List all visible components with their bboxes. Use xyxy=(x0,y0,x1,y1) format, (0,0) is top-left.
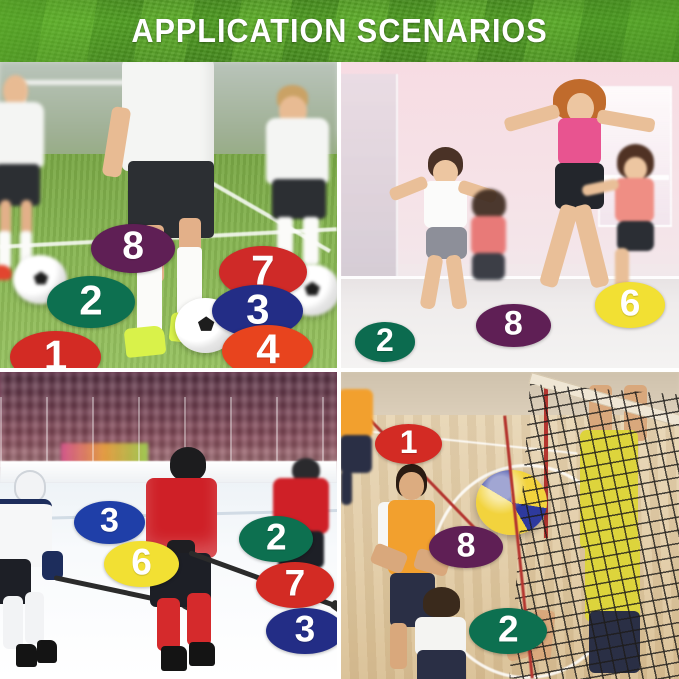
floor-dot-8: 8 xyxy=(91,224,175,273)
dancer xyxy=(456,197,530,319)
panel-hockey: 36273 xyxy=(0,372,337,679)
floor-dot-7: 7 xyxy=(256,562,334,608)
floor-dot-number: 2 xyxy=(498,607,519,653)
background-player xyxy=(0,86,61,276)
floor-dot-number: 4 xyxy=(256,324,279,368)
floor-dot-number: 6 xyxy=(620,281,641,327)
floor-dot-2: 2 xyxy=(355,322,416,362)
panel-fitness: 286 xyxy=(341,62,679,368)
floor-dot-number: 3 xyxy=(100,500,119,543)
hockey-photo: 36273 xyxy=(0,372,337,679)
floor-dot-number: 1 xyxy=(400,423,418,463)
soccer-photo: 821734 xyxy=(0,62,337,368)
floor-dot-2: 2 xyxy=(47,276,135,328)
floor-dot-number: 2 xyxy=(266,515,287,561)
panel-soccer: 821734 xyxy=(0,62,337,368)
floor-dot-6: 6 xyxy=(595,282,666,328)
floor-dot-number: 8 xyxy=(457,524,476,567)
floor-dot-number: 8 xyxy=(122,223,144,272)
volleyball-photo: 182 xyxy=(341,372,679,679)
application-scenarios-poster: APPLICATION SCENARIOS xyxy=(0,0,679,679)
floor-dot-number: 2 xyxy=(376,321,394,361)
floor-dot-number: 1 xyxy=(44,330,67,368)
floor-dot-3: 3 xyxy=(266,608,337,654)
scenario-grid: 821734 xyxy=(0,62,679,679)
floor-dot-number: 7 xyxy=(285,561,306,607)
floor-dot-number: 3 xyxy=(295,607,316,653)
fitness-photo: 286 xyxy=(341,62,679,368)
floor-dot-6: 6 xyxy=(104,541,178,587)
floor-dot-number: 2 xyxy=(79,275,102,327)
floor-dot-8: 8 xyxy=(476,304,550,347)
floor-dot-3: 3 xyxy=(74,501,145,544)
page-title: APPLICATION SCENARIOS xyxy=(24,0,655,62)
floor-dot-number: 6 xyxy=(131,539,152,585)
hockey-player-usa xyxy=(0,470,88,673)
header-banner: APPLICATION SCENARIOS xyxy=(0,0,679,62)
panel-volleyball: 182 xyxy=(341,372,679,679)
floor-dot-number: 8 xyxy=(504,302,523,345)
floor-dot-1: 1 xyxy=(375,424,443,464)
